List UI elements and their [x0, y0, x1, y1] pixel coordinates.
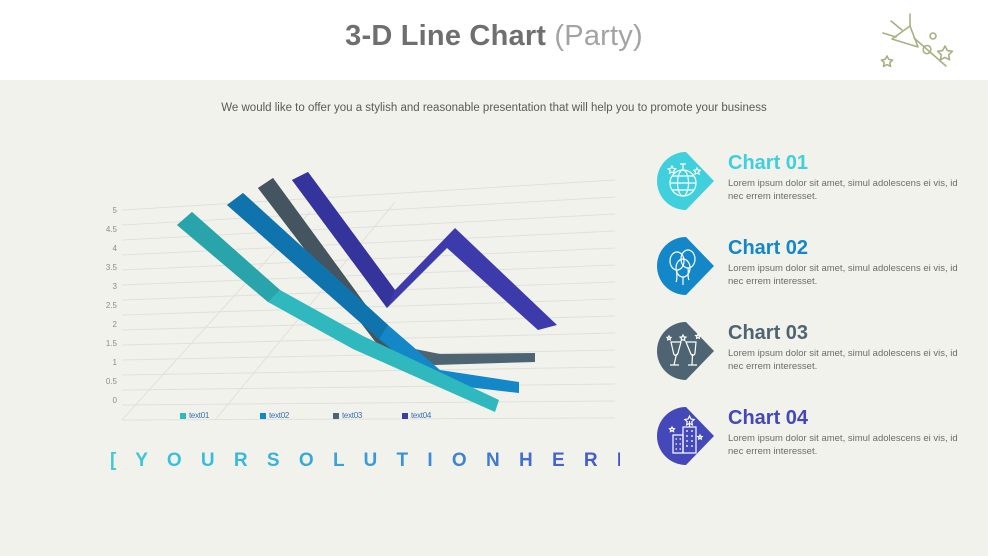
legend-item-text03[interactable]: text03 — [333, 411, 362, 420]
svg-text:4.5: 4.5 — [106, 225, 118, 234]
svg-text:3: 3 — [113, 282, 118, 291]
subtitle-text: We would like to offer you a stylish and… — [0, 102, 988, 114]
legend-label-text01: text01 — [189, 411, 209, 420]
series-text04 — [292, 172, 557, 330]
info-text-chart-01: Chart 01 Lorem ipsum dolor sit amet, sim… — [728, 152, 968, 203]
svg-text:0.5: 0.5 — [106, 377, 118, 386]
legend-label-text03: text03 — [342, 411, 362, 420]
info-text-chart-04: Chart 04 Lorem ipsum dolor sit amet, sim… — [728, 407, 968, 458]
header-bar: 3-D Line Chart (Party) — [0, 0, 988, 80]
svg-text:2: 2 — [113, 320, 118, 329]
info-text-chart-03: Chart 03 Lorem ipsum dolor sit amet, sim… — [728, 322, 968, 373]
badge-chart-04[interactable] — [655, 405, 717, 467]
solution-banner: [ Y O U R S O L U T I O N H E R E ] — [110, 450, 620, 472]
chart-legend: text01 text02 text03 text04 — [180, 411, 510, 425]
info-desc-chart-01: Lorem ipsum dolor sit amet, simul adoles… — [728, 178, 968, 203]
svg-text:5: 5 — [113, 206, 118, 215]
party-popper-icon — [874, 6, 970, 74]
legend-item-text02[interactable]: text02 — [260, 411, 289, 420]
info-title-chart-03: Chart 03 — [728, 322, 968, 344]
svg-text:2.5: 2.5 — [106, 301, 118, 310]
info-block-chart-04[interactable]: Chart 04 Lorem ipsum dolor sit amet, sim… — [650, 405, 970, 490]
info-title-chart-04: Chart 04 — [728, 407, 968, 429]
info-title-chart-01: Chart 01 — [728, 152, 968, 174]
info-desc-chart-02: Lorem ipsum dolor sit amet, simul adoles… — [728, 263, 968, 288]
legend-item-text01[interactable]: text01 — [180, 411, 209, 420]
info-text-chart-02: Chart 02 Lorem ipsum dolor sit amet, sim… — [728, 237, 968, 288]
legend-swatch-text02 — [260, 413, 266, 419]
legend-item-text04[interactable]: text04 — [402, 411, 431, 420]
chart-y-axis: 5 4.5 4 3.5 3 2.5 2 1.5 1 0.5 0 — [106, 206, 118, 405]
chart-canvas: 5 4.5 4 3.5 3 2.5 2 1.5 1 0.5 0 — [95, 150, 640, 435]
badge-chart-02[interactable] — [655, 235, 717, 297]
info-blocks-panel: Chart 01 Lorem ipsum dolor sit amet, sim… — [650, 150, 970, 510]
svg-text:1: 1 — [113, 358, 118, 367]
legend-swatch-text01 — [180, 413, 186, 419]
svg-text:1.5: 1.5 — [106, 339, 118, 348]
badge-chart-01[interactable] — [655, 150, 717, 212]
page-title-sub: (Party) — [554, 20, 642, 52]
info-block-chart-02[interactable]: Chart 02 Lorem ipsum dolor sit amet, sim… — [650, 235, 970, 320]
legend-swatch-text04 — [402, 413, 408, 419]
info-desc-chart-04: Lorem ipsum dolor sit amet, simul adoles… — [728, 433, 968, 458]
svg-text:4: 4 — [113, 244, 118, 253]
svg-text:3.5: 3.5 — [106, 263, 118, 272]
info-block-chart-03[interactable]: Chart 03 Lorem ipsum dolor sit amet, sim… — [650, 320, 970, 405]
line-chart-3d: 5 4.5 4 3.5 3 2.5 2 1.5 1 0.5 0 — [95, 150, 640, 430]
info-desc-chart-03: Lorem ipsum dolor sit amet, simul adoles… — [728, 348, 968, 373]
badge-chart-03[interactable] — [655, 320, 717, 382]
info-title-chart-02: Chart 02 — [728, 237, 968, 259]
page-title-main: 3-D Line Chart — [345, 20, 554, 52]
info-block-chart-01[interactable]: Chart 01 Lorem ipsum dolor sit amet, sim… — [650, 150, 970, 235]
page-title: 3-D Line Chart (Party) — [0, 20, 988, 53]
svg-text:0: 0 — [113, 396, 118, 405]
legend-label-text02: text02 — [269, 411, 289, 420]
legend-label-text04: text04 — [411, 411, 431, 420]
legend-swatch-text03 — [333, 413, 339, 419]
